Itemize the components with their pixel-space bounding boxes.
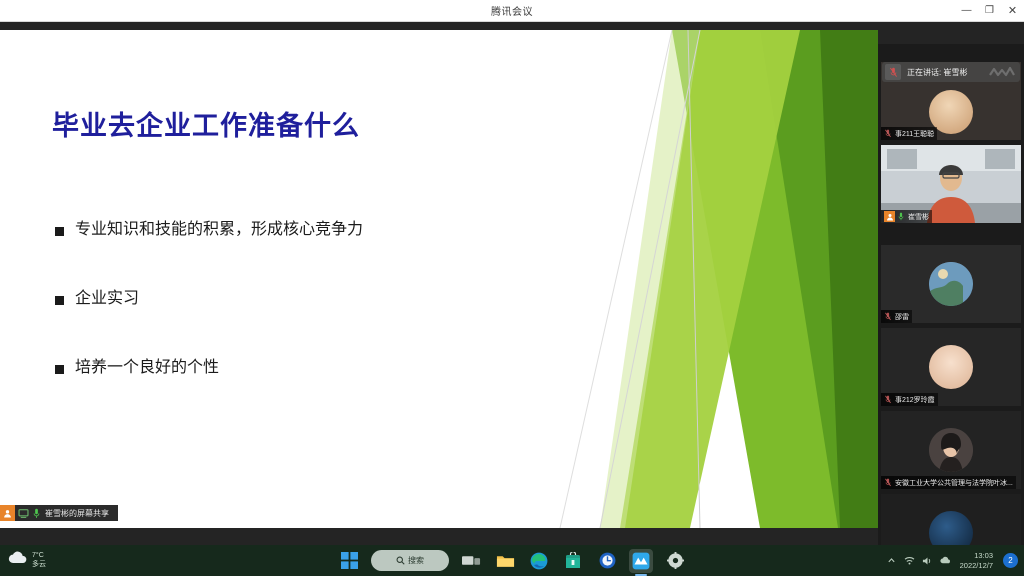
participant-tile[interactable]: 崔雪彬 [881,145,1021,223]
host-badge-icon [0,505,15,521]
microphone-muted-icon [884,308,892,324]
shared-screen[interactable]: 毕业去企业工作准备什么 专业知识和技能的积累，形成核心竞争力 企业实习 培养一个… [0,30,878,528]
window-title: 腾讯会议 [491,3,533,18]
participant-name: 事212罗玲霞 [895,395,935,405]
participant-name: 安徽工业大学公共管理与法学院叶冰... [895,478,1013,488]
tencent-meeting-button[interactable] [629,549,653,573]
weather-text: 7°C 多云 [32,552,46,568]
meeting-stage: 毕业去企业工作准备什么 专业知识和技能的积累，形成核心竞争力 企业实习 培养一个… [0,22,1024,545]
search-input[interactable]: 搜索 [371,550,449,571]
slide-bullet-item: 培养一个良好的个性 [55,358,695,378]
participant-name-bar: 安徽工业大学公共管理与法学院叶冰... [881,476,1016,489]
edge-browser-button[interactable] [527,549,551,573]
host-badge-icon [884,211,895,222]
file-explorer-button[interactable] [493,549,517,573]
tencent-meeting-window: 腾讯会议 — ❐ ✕ 毕业去企业工作准 [0,0,1024,576]
participant-name: 邵雷 [895,312,909,322]
chevron-up-icon[interactable] [886,555,897,566]
close-icon[interactable]: ✕ [1001,0,1024,22]
cloud-icon [8,551,28,570]
settings-button[interactable] [663,549,687,573]
microphone-muted-icon [884,391,892,407]
slide-bullet-list: 专业知识和技能的积累，形成核心竞争力 企业实习 培养一个良好的个性 [55,220,695,427]
participant-name: 崔雪彬 [908,212,929,222]
microphone-muted-icon [885,64,901,80]
weather-desc: 多云 [32,561,46,568]
screen-share-indicator: 崔雪彬的屏幕共享 [0,505,118,521]
window-controls: — ❐ ✕ [955,0,1024,22]
window-title-bar: 腾讯会议 — ❐ ✕ [0,0,1024,22]
bullet-text: 专业知识和技能的积累，形成核心竞争力 [75,220,363,240]
notification-badge[interactable]: 2 [1003,553,1018,568]
minimize-icon[interactable]: — [955,0,978,22]
search-placeholder: 搜索 [408,555,424,566]
participant-name-bar: 事212罗玲霞 [881,393,938,406]
participant-tile[interactable]: 邵雷 [881,245,1021,323]
active-speaker-banner: 正在讲话: 崔雪彬 [882,62,1020,82]
windows-taskbar: 7°C 多云 搜索 [0,545,1024,576]
participant-tile[interactable]: 事212罗玲霞 [881,328,1021,406]
microsoft-store-button[interactable] [561,549,585,573]
bullet-square-icon [55,296,64,305]
maximize-icon[interactable]: ❐ [978,0,1001,22]
cloud-sync-icon[interactable] [940,555,951,566]
avatar [929,428,973,472]
bullet-text: 培养一个良好的个性 [75,358,219,378]
slide-title: 毕业去企业工作准备什么 [52,104,360,143]
avatar [929,262,973,306]
app-button[interactable] [595,549,619,573]
weather-widget[interactable]: 7°C 多云 [8,551,80,570]
avatar [929,345,973,389]
participant-name-bar: 事211王聪聪 [881,127,937,140]
slide-bullet-item: 专业知识和技能的积累，形成核心竞争力 [55,220,695,240]
start-button[interactable] [337,549,361,573]
screen-share-icon [18,508,29,519]
microphone-muted-icon [884,125,892,141]
bullet-square-icon [55,227,64,236]
task-view-button[interactable] [459,549,483,573]
participant-name-bar: 崔雪彬 [881,210,932,223]
participant-name: 事211王聪聪 [895,129,934,139]
participant-filmstrip: 正在讲话: 崔雪彬 事211王聪聪 [878,44,1024,567]
presentation-slide: 毕业去企业工作准备什么 专业知识和技能的积累，形成核心竞争力 企业实习 培养一个… [0,30,878,528]
clock-time: 13:03 [974,551,993,560]
bullet-text: 企业实习 [75,289,139,309]
slide-bullet-item: 企业实习 [55,289,695,309]
system-tray: 13:03 2022/12/7 2 [886,551,1018,570]
screen-share-owner-label: 崔雪彬的屏幕共享 [45,508,109,519]
volume-icon[interactable] [922,555,933,566]
taskbar-buttons: 搜索 [337,549,687,573]
microphone-icon [897,208,905,224]
clock-date: 2022/12/7 [960,561,993,570]
weather-temp: 7°C [32,552,44,559]
active-speaker-label: 正在讲话: 崔雪彬 [907,67,967,78]
bullet-square-icon [55,365,64,374]
microphone-muted-icon [884,474,892,490]
microphone-icon [32,508,41,519]
taskbar-clock[interactable]: 13:03 2022/12/7 [960,551,993,570]
participant-name-bar: 邵雷 [881,310,912,323]
network-icon[interactable] [904,555,915,566]
search-icon [396,552,405,570]
audio-wave-icon [989,66,1015,78]
participant-tile[interactable]: 安徽工业大学公共管理与法学院叶冰... [881,411,1021,489]
